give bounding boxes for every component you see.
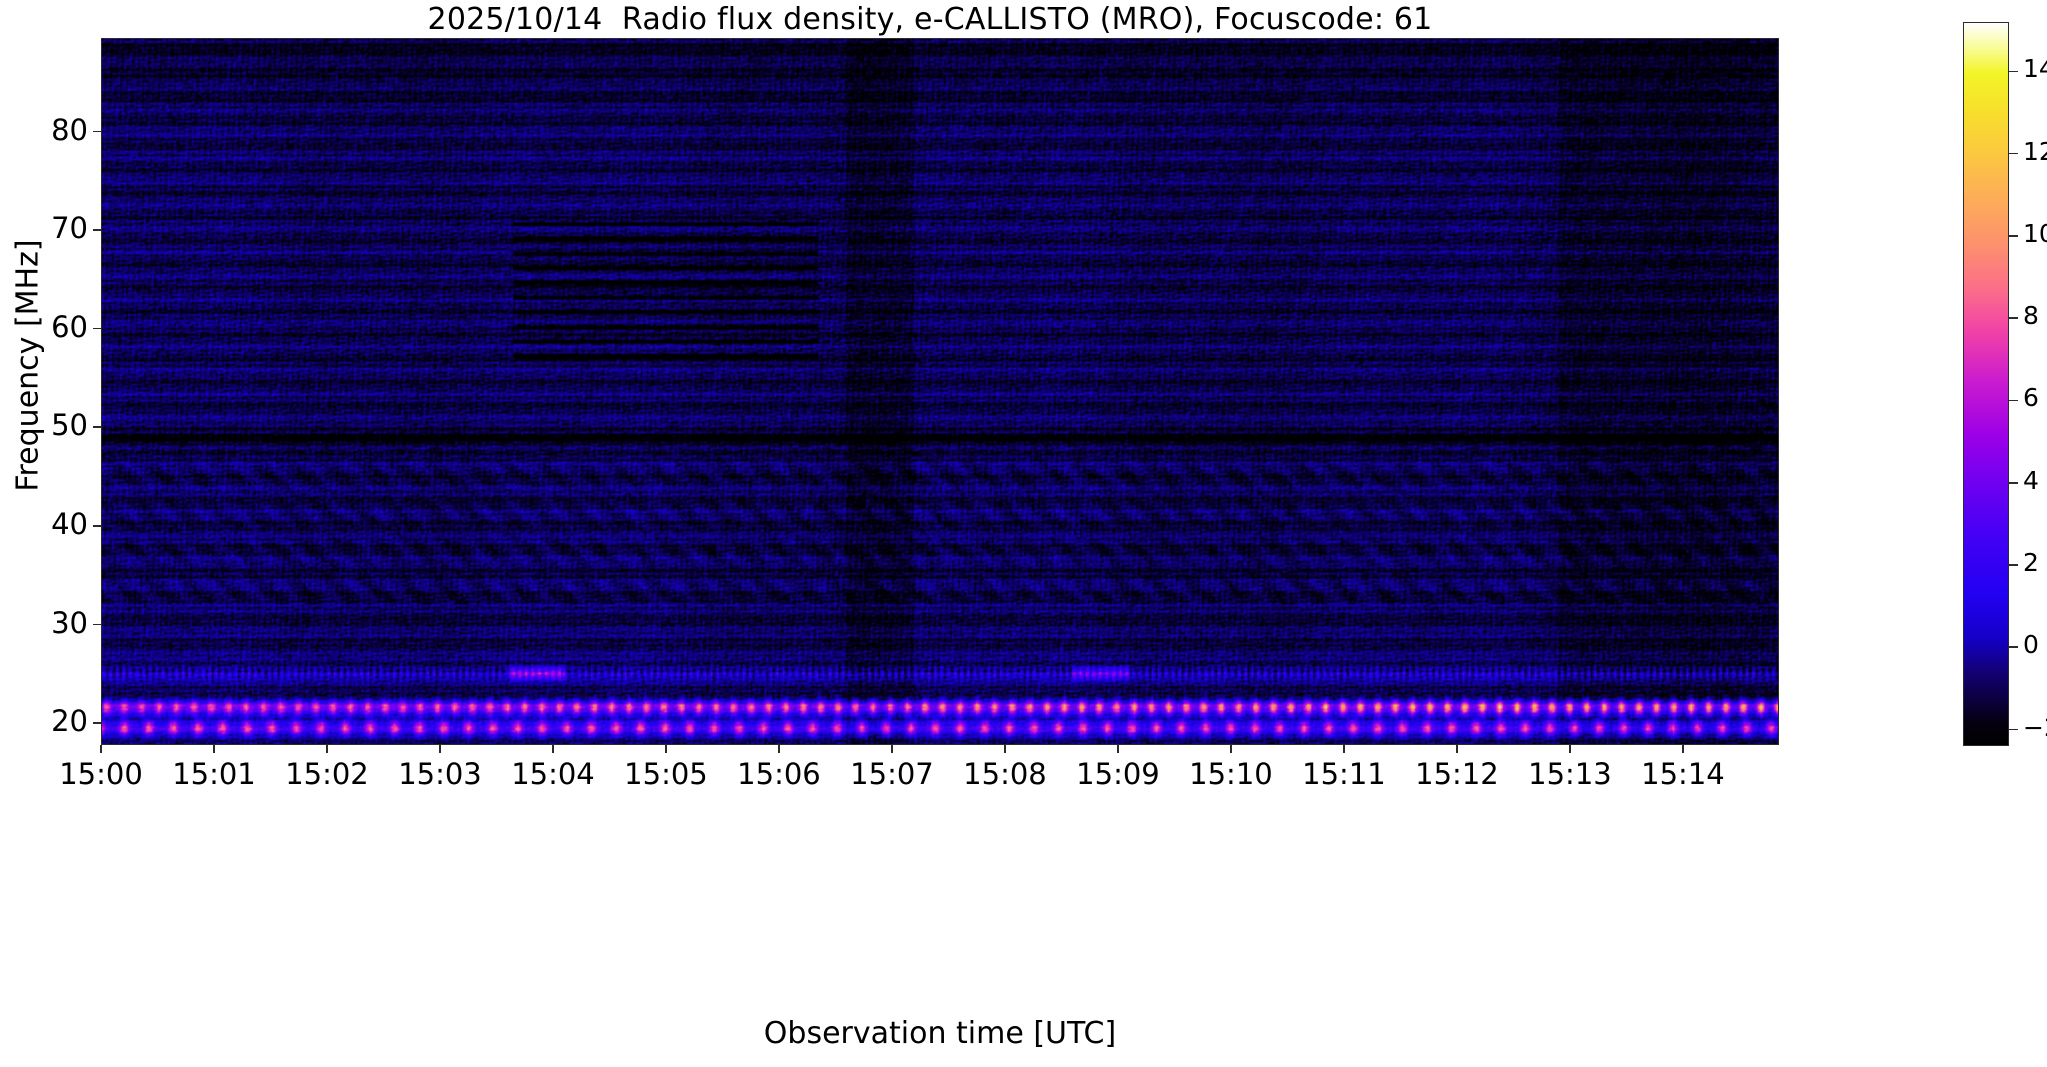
x-tick-mark (552, 745, 554, 753)
colorbar-tick-label: 12 (2023, 136, 2047, 168)
colorbar-tick-mark (2009, 729, 2018, 731)
x-tick-mark (439, 745, 441, 753)
spectrogram-canvas (102, 39, 1778, 744)
colorbar-tick-label: 8 (2023, 300, 2039, 332)
y-tick-mark (93, 525, 101, 527)
colorbar-tick-mark (2009, 646, 2018, 648)
colorbar-tick-mark (2009, 235, 2018, 237)
x-tick-mark (665, 745, 667, 753)
colorbar-tick-mark (2009, 317, 2018, 319)
colorbar-tick-mark (2009, 564, 2018, 566)
colorbar-tick-label: 6 (2023, 382, 2039, 414)
spectrogram-plot-area[interactable] (101, 38, 1779, 745)
y-tick-label: 50 (51, 408, 88, 442)
y-tick-label: 70 (51, 211, 88, 245)
x-tick-mark (1343, 745, 1345, 753)
x-tick-mark (1682, 745, 1684, 753)
x-tick-mark (1004, 745, 1006, 753)
x-tick-mark (1456, 745, 1458, 753)
colorbar-tick-mark (2009, 71, 2018, 73)
colorbar-tick-mark (2009, 400, 2018, 402)
colorbar-tick-label: −2 (2023, 712, 2047, 744)
y-tick-label: 40 (51, 507, 88, 541)
x-tick-mark (326, 745, 328, 753)
y-tick-mark (93, 624, 101, 626)
colorbar-tick-mark (2009, 153, 2018, 155)
chart-title: 2025/10/14 Radio flux density, e-CALLIST… (0, 2, 1860, 37)
y-tick-label: 30 (51, 606, 88, 640)
y-tick-label: 80 (51, 113, 88, 147)
x-tick-mark (1230, 745, 1232, 753)
x-axis: 15:0015:0115:0215:0315:0415:0515:0615:07… (101, 745, 1779, 825)
y-tick-mark (93, 229, 101, 231)
x-tick-mark (213, 745, 215, 753)
x-tick-mark (1569, 745, 1571, 753)
colorbar-tick-mark (2009, 482, 2018, 484)
colorbar-tick-label: 2 (2023, 547, 2039, 579)
colorbar-tick-label: 4 (2023, 465, 2039, 497)
y-tick-mark (93, 426, 101, 428)
x-tick-label: 15:14 (1608, 757, 1758, 791)
colorbar-tick-label: 0 (2023, 629, 2039, 661)
y-tick-mark (93, 328, 101, 330)
y-tick-label: 20 (51, 704, 88, 738)
x-tick-mark (100, 745, 102, 753)
y-tick-label: 60 (51, 310, 88, 344)
y-axis-label: Frequency [MHz] (11, 16, 46, 716)
y-tick-mark (93, 131, 101, 133)
x-axis-label: Observation time [UTC] (101, 1016, 1779, 1051)
x-tick-mark (778, 745, 780, 753)
x-tick-mark (891, 745, 893, 753)
x-tick-mark (1117, 745, 1119, 753)
spectrogram-image (102, 39, 1778, 744)
y-tick-mark (93, 722, 101, 724)
colorbar-tick-label: 14 (2023, 53, 2047, 85)
colorbar[interactable]: −202468101214 (1963, 22, 2009, 746)
colorbar-gradient (1963, 22, 2009, 746)
colorbar-tick-label: 10 (2023, 218, 2047, 250)
